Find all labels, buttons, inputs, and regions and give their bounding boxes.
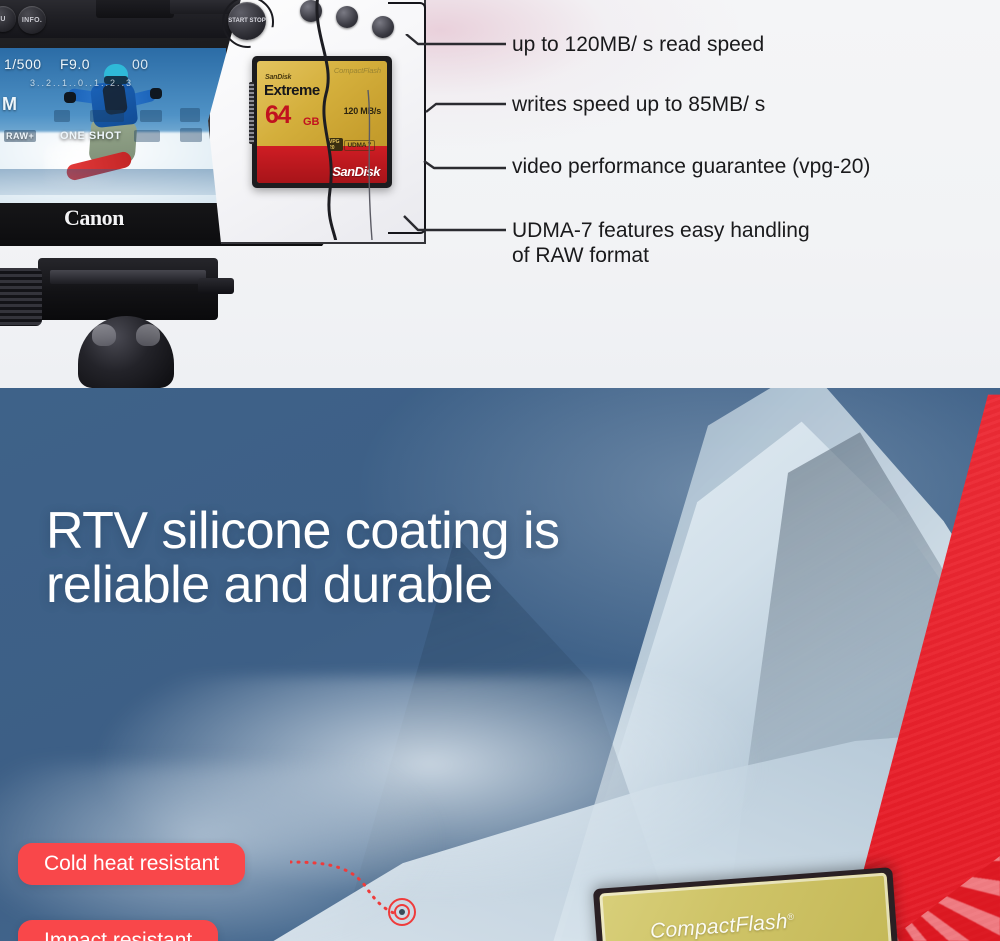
top-feature-section: U INFO. 1/500 F9.0 bbox=[0, 0, 1000, 388]
lcd-iso: 00 bbox=[132, 56, 149, 72]
lcd-icon-drive bbox=[54, 110, 70, 122]
lcd-bottom-bar bbox=[0, 169, 226, 195]
lcd-shooting-mode: M bbox=[2, 94, 18, 115]
info-button[interactable]: INFO. bbox=[18, 6, 46, 34]
callout-write-speed: writes speed up to 85MB/ s bbox=[512, 93, 765, 118]
tripod-ball-head bbox=[78, 316, 174, 388]
card-hero-trademark: ® bbox=[787, 911, 795, 921]
product-marketing-page: U INFO. 1/500 F9.0 bbox=[0, 0, 1000, 941]
lcd-shutter-speed: 1/500 bbox=[4, 56, 42, 72]
callout-leader-lines bbox=[398, 34, 508, 244]
durability-section: RTV silicone coating is reliable and dur… bbox=[0, 388, 1000, 941]
section-heading: RTV silicone coating is reliable and dur… bbox=[46, 504, 560, 612]
tripod-quick-release-plate bbox=[38, 258, 218, 320]
lcd-icon-picstyle bbox=[134, 130, 160, 142]
lcd-exposure-scale: 3..2..1..0..1..2..3 bbox=[30, 78, 133, 88]
lcd-icon-metering bbox=[90, 110, 124, 122]
lcd-af-mode: ONE SHOT bbox=[60, 130, 121, 142]
target-marker-icon bbox=[388, 898, 416, 926]
rider-glove-left bbox=[64, 92, 76, 103]
menu-button-label: U bbox=[0, 16, 5, 23]
rider-glove-right bbox=[150, 88, 162, 99]
lcd-image-quality: RAW+ bbox=[4, 130, 36, 142]
tripod-adjust-knob bbox=[0, 268, 42, 326]
lcd-icon-wb bbox=[140, 110, 162, 122]
camera-viewfinder bbox=[96, 0, 174, 18]
callout-read-speed: up to 120MB/ s read speed bbox=[512, 33, 764, 58]
card-hero-format-text: CompactFlash bbox=[649, 910, 788, 941]
camera-lcd-screen: 1/500 F9.0 00 3..2..1..0..1..2..3 M ONE … bbox=[0, 48, 226, 203]
lcd-icon-battery bbox=[180, 108, 200, 122]
callout-udma: UDMA-7 features easy handling of RAW for… bbox=[512, 219, 810, 269]
callout-vpg: video performance guarantee (vpg-20) bbox=[512, 155, 870, 180]
info-button-label: INFO. bbox=[22, 17, 42, 24]
target-center-dot bbox=[399, 909, 405, 915]
lcd-icon-card bbox=[180, 128, 202, 142]
badge-cold-heat-resistant[interactable]: Cold heat resistant bbox=[18, 843, 245, 885]
lcd-aperture: F9.0 bbox=[60, 56, 90, 72]
card-hero-format-name: CompactFlash® bbox=[649, 909, 795, 941]
tripod-lever-arm bbox=[198, 278, 234, 294]
camera-brand-logo: Canon bbox=[64, 205, 124, 231]
badge-impact-resistant[interactable]: Impact resistant bbox=[18, 920, 218, 941]
